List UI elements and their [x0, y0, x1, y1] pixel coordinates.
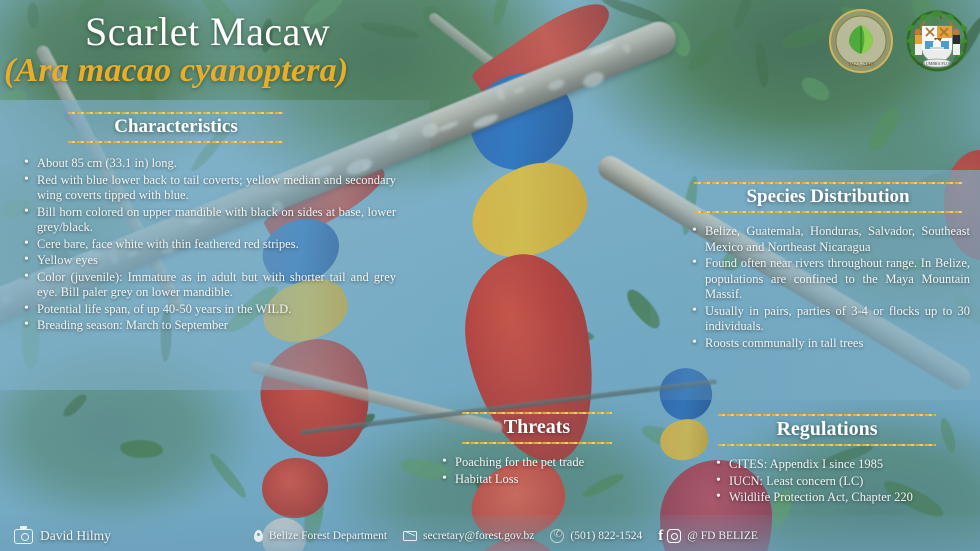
list-item: Potential life span, of up 40-50 years i… — [22, 302, 396, 318]
divider-top — [462, 412, 612, 414]
list-item: Wildlife Protection Act, Chapter 220 — [714, 490, 968, 506]
phone-icon — [550, 529, 564, 543]
divider-bottom — [718, 444, 936, 446]
mail-icon — [403, 531, 417, 541]
infographic-poster: Scarlet Macaw (Ara macao cyanoptera) 192… — [0, 0, 980, 551]
logo-group: 1922-2003 — [828, 8, 970, 74]
section-title: Species Distribution — [694, 184, 962, 211]
forest-department-seal-logo: 1922-2003 — [828, 8, 894, 74]
list-item: IUCN: Least concern (LC) — [714, 474, 968, 490]
section-header-regulations: Regulations — [718, 414, 936, 446]
divider-bottom — [68, 141, 284, 143]
contact-department: Belize Forest Department — [254, 530, 387, 542]
photographer-name: David Hilmy — [40, 528, 111, 544]
scientific-name: (Ara macao cyanoptera) — [4, 52, 348, 90]
section-header-characteristics: Characteristics — [68, 112, 284, 143]
list-item: Usually in pairs, parties of 3-4 or floc… — [690, 304, 970, 335]
divider-top — [68, 112, 284, 114]
characteristics-list: About 85 cm (33.1 in) long.Red with blue… — [18, 156, 396, 334]
list-item: Poaching for the pet trade — [440, 455, 670, 471]
content-layer: Scarlet Macaw (Ara macao cyanoptera) 192… — [0, 0, 980, 551]
regulations-list: CITES: Appendix I since 1985IUCN: Least … — [700, 457, 968, 506]
instagram-icon[interactable] — [667, 529, 681, 543]
section-regulations: Regulations CITES: Appendix I since 1985… — [700, 414, 968, 507]
contact-text: secretary@forest.gov.bz — [423, 530, 534, 542]
svg-text:SUB UMBRA FLOREO: SUB UMBRA FLOREO — [917, 61, 957, 66]
divider-top — [694, 182, 962, 184]
divider-top — [718, 414, 936, 416]
threats-list: Poaching for the pet tradeHabitat Loss — [420, 455, 670, 487]
contact-phone[interactable]: (501) 822-1524 — [550, 529, 642, 543]
section-header-threats: Threats — [462, 412, 612, 444]
social-handle[interactable]: f @ FD BELIZE — [658, 529, 758, 544]
section-title: Regulations — [718, 416, 936, 444]
section-characteristics: Characteristics About 85 cm (33.1 in) lo… — [18, 112, 396, 335]
footer-bar: David Hilmy Belize Forest Department sec… — [0, 521, 980, 551]
camera-icon — [14, 529, 33, 544]
list-item: Found often near rivers throughout range… — [690, 256, 970, 303]
list-item: CITES: Appendix I since 1985 — [714, 457, 968, 473]
page-title: Scarlet Macaw — [85, 8, 330, 55]
social-handle-text: @ FD BELIZE — [687, 530, 758, 542]
photo-credit: David Hilmy — [14, 528, 111, 544]
list-item: Roosts communally in tall trees — [690, 336, 970, 352]
list-item: Color (juvenile): Immature as in adult b… — [22, 270, 396, 301]
list-item: Breading season: March to September — [22, 318, 396, 334]
social-icons: f — [658, 529, 681, 544]
contact-email[interactable]: secretary@forest.gov.bz — [403, 530, 534, 542]
list-item: Habitat Loss — [440, 472, 670, 488]
list-item: Red with blue lower back to tail coverts… — [22, 173, 396, 204]
list-item: Bill horn colored on upper mandible with… — [22, 205, 396, 236]
facebook-icon[interactable]: f — [658, 529, 663, 544]
svg-text:1922-2003: 1922-2003 — [848, 62, 874, 68]
contact-group: Belize Forest Department secretary@fores… — [254, 529, 758, 544]
list-item: Belize, Guatemala, Honduras, Salvador, S… — [690, 224, 970, 255]
divider-bottom — [694, 211, 962, 213]
list-item: About 85 cm (33.1 in) long. — [22, 156, 396, 172]
section-title: Characteristics — [68, 114, 284, 141]
contact-text: Belize Forest Department — [269, 530, 387, 542]
divider-bottom — [462, 442, 612, 444]
section-threats: Threats Poaching for the pet tradeHabita… — [420, 412, 670, 488]
list-item: Cere bare, face white with thin feathere… — [22, 237, 396, 253]
section-species-distribution: Species Distribution Belize, Guatemala, … — [690, 182, 970, 352]
location-pin-icon — [254, 530, 263, 542]
contact-text: (501) 822-1524 — [570, 530, 642, 542]
section-title: Threats — [462, 414, 612, 442]
list-item: Yellow eyes — [22, 253, 396, 269]
section-header-distribution: Species Distribution — [694, 182, 962, 213]
belize-coat-of-arms-logo: SUB UMBRA FLOREO — [904, 8, 970, 74]
distribution-list: Belize, Guatemala, Honduras, Salvador, S… — [690, 224, 970, 351]
